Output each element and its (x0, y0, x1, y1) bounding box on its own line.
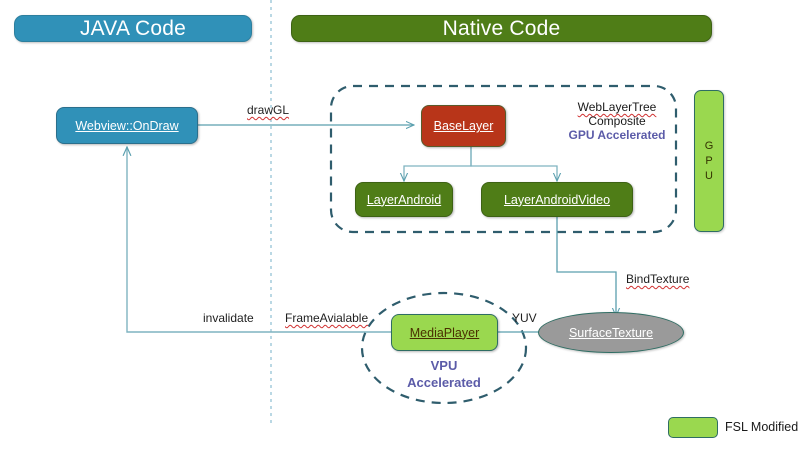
node-gpu-line-1: G (705, 139, 714, 154)
node-baselayer[interactable]: BaseLayer (421, 105, 506, 147)
note-weblayertree-line-2: Composite (552, 114, 682, 128)
note-vpu-line-1: VPU (384, 357, 504, 374)
note-weblayertree-line-3: GPU Accelerated (552, 128, 682, 142)
node-layerandroid-label: LayerAndroid (367, 193, 441, 207)
banner-java-code-label: JAVA Code (80, 17, 186, 41)
legend-swatch-fsl-modified (668, 417, 718, 438)
node-gpu-line-2: P (705, 154, 712, 169)
banner-native-code: Native Code (291, 15, 712, 42)
node-layerandroid[interactable]: LayerAndroid (355, 182, 453, 217)
diagram-canvas: JAVA Code Native Code Webview::OnDraw Ba… (0, 0, 801, 454)
node-mediaplayer[interactable]: MediaPlayer (391, 314, 498, 351)
edge-label-drawgl: drawGL (247, 103, 289, 117)
edge-label-yuv: YUV (512, 311, 537, 325)
node-baselayer-label: BaseLayer (434, 119, 494, 133)
edge-baselayer-to-video (471, 147, 557, 181)
node-mediaplayer-label: MediaPlayer (410, 326, 479, 340)
node-layerandroidvideo[interactable]: LayerAndroidVideo (481, 182, 633, 217)
node-surfacetexture-label: SurfaceTexture (569, 326, 653, 340)
banner-java-code: JAVA Code (14, 15, 252, 42)
node-webview-ondraw[interactable]: Webview::OnDraw (56, 107, 198, 144)
banner-native-code-label: Native Code (443, 17, 561, 41)
edge-baselayer-split (404, 147, 471, 181)
note-weblayertree-line-1: WebLayerTree (552, 100, 682, 114)
node-webview-ondraw-label: Webview::OnDraw (75, 119, 178, 133)
note-vpu-accelerated: VPU Accelerated (384, 357, 504, 391)
edge-label-bindtexture: BindTexture (626, 272, 689, 286)
node-gpu[interactable]: G P U (694, 90, 724, 232)
node-gpu-line-3: U (705, 169, 713, 184)
legend-label-fsl-modified: FSL Modified (725, 420, 798, 434)
edge-label-frameavialable: FrameAvialable (285, 311, 368, 325)
node-layerandroidvideo-label: LayerAndroidVideo (504, 193, 610, 207)
edge-label-invalidate: invalidate (203, 311, 254, 325)
node-surfacetexture[interactable]: SurfaceTexture (538, 312, 684, 353)
note-vpu-line-2: Accelerated (384, 374, 504, 391)
note-weblayertree: WebLayerTree Composite GPU Accelerated (552, 100, 682, 142)
edge-invalidate (127, 147, 398, 332)
